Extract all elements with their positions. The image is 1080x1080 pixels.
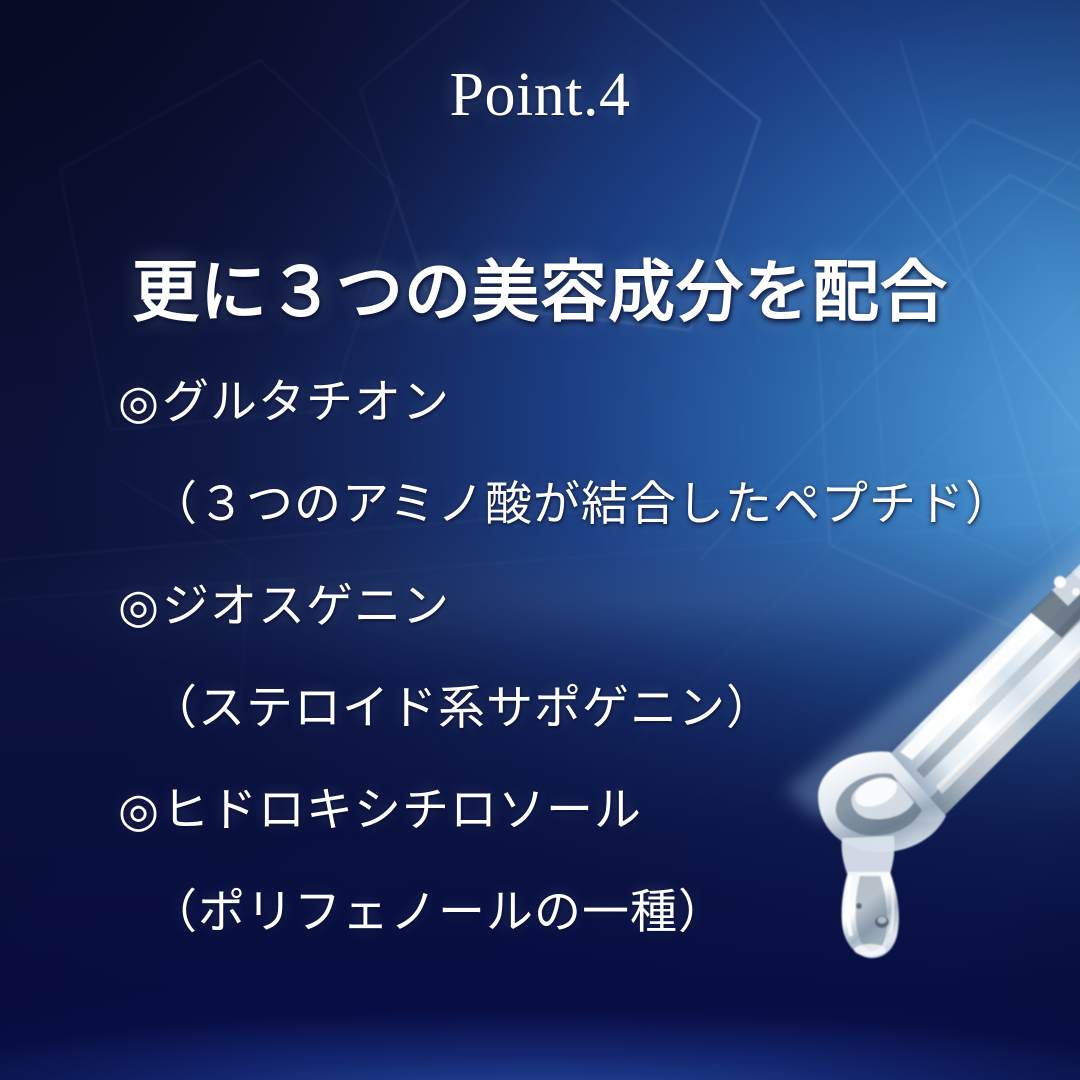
list-item: （ポリフェノールの一種）: [118, 862, 998, 964]
page-title: 更に３つの美容成分を配合: [0, 257, 1080, 329]
list-item-label: ヒドロキシチロソール: [162, 785, 642, 837]
list-item-label: グルタチオン: [162, 377, 450, 429]
list-item: ◎ジオスゲニン: [118, 556, 998, 658]
list-item-label: （ステロイド系サポゲニン）: [150, 683, 774, 735]
list-item: （３つのアミノ酸が結合したペプチド）: [118, 454, 998, 556]
slide-canvas: Point.4 更に３つの美容成分を配合 ◎グルタチオン （３つのアミノ酸が結合…: [0, 0, 1080, 1080]
list-item-label: （ポリフェノールの一種）: [150, 887, 726, 939]
double-circle-bullet-icon: ◎: [118, 760, 160, 862]
double-circle-bullet-icon: ◎: [118, 352, 160, 454]
list-item-label: （３つのアミノ酸が結合したペプチド）: [150, 479, 1013, 531]
background-bottom-glow: [0, 990, 1080, 1080]
list-item: （ステロイド系サポゲニン）: [118, 658, 998, 760]
list-item: ◎グルタチオン: [118, 352, 998, 454]
list-item-label: ジオスゲニン: [162, 581, 450, 633]
double-circle-bullet-icon: ◎: [118, 556, 160, 658]
point-label: Point.4: [0, 64, 1080, 126]
list-item: ◎ヒドロキシチロソール: [118, 760, 998, 862]
ingredient-list: ◎グルタチオン （３つのアミノ酸が結合したペプチド） ◎ジオスゲニン （ステロイ…: [118, 352, 998, 964]
